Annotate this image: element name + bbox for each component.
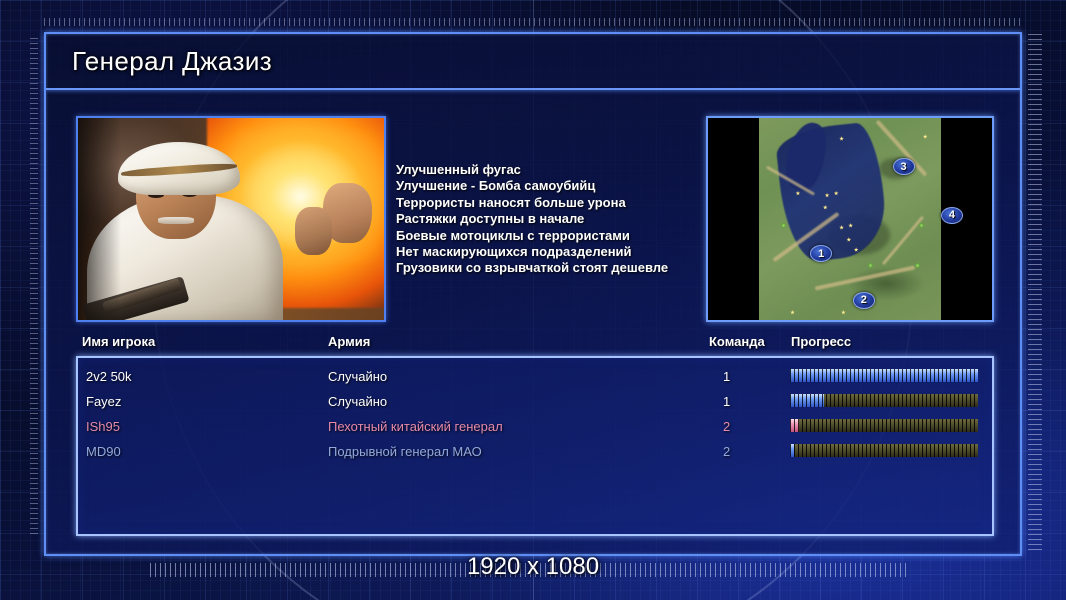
cell-player-name: 2v2 50k: [86, 369, 132, 384]
minimap-prop-2: [919, 223, 924, 228]
ability-line: Улучшенный фугас: [396, 162, 696, 178]
progress-bar: [790, 444, 978, 457]
general-portrait-panel: [76, 116, 386, 322]
player-table-panel: 2v2 50kСлучайно1FayezСлучайно1ISh95Пехот…: [76, 356, 994, 536]
cell-player-name: ISh95: [86, 419, 120, 434]
progress-bar-track: [790, 444, 978, 457]
cell-team: 2: [723, 419, 730, 434]
minimap-star-11: [790, 310, 795, 315]
minimap-panel[interactable]: 1234: [706, 116, 994, 322]
cell-player-name: MD90: [86, 444, 121, 459]
progress-bar: [790, 369, 978, 382]
general-portrait-image: [78, 118, 384, 320]
player-rows: 2v2 50kСлучайно1FayezСлучайно1ISh95Пехот…: [78, 358, 992, 464]
minimap-terrain: [759, 118, 941, 320]
column-header-team: Команда: [709, 334, 765, 349]
minimap-start-position-2: 2: [853, 292, 875, 309]
page-title: Генерал Джазиз: [72, 46, 272, 77]
table-row[interactable]: MD90Подрывной генерал МАО2: [78, 439, 992, 464]
portrait-mouth: [158, 217, 195, 224]
cell-army: Подрывной генерал МАО: [328, 444, 482, 459]
ability-line: Грузовики со взрывчаткой стоят дешевле: [396, 260, 696, 276]
general-abilities-list: Улучшенный фугасУлучшение - Бомба самоуб…: [396, 162, 696, 277]
portrait-vignette: [78, 118, 121, 320]
minimap-star-2: [923, 134, 928, 139]
minimap-start-position-4: 4: [941, 207, 963, 224]
minimap-canvas: 1234: [708, 118, 992, 320]
minimap-start-position-3: 3: [893, 158, 915, 175]
portrait-hand-left: [295, 207, 332, 255]
table-row[interactable]: ISh95Пехотный китайский генерал2: [78, 414, 992, 439]
minimap-prop-3: [868, 263, 873, 268]
progress-bar-fill: [790, 394, 824, 407]
minimap-letterbox-left: [708, 118, 759, 320]
progress-bar-track: [790, 419, 978, 432]
ability-line: Боевые мотоциклы с террористами: [396, 228, 696, 244]
ruler-right: [1028, 34, 1042, 554]
minimap-road-2: [814, 265, 914, 290]
progress-bar: [790, 419, 978, 432]
progress-bar-fill: [790, 444, 794, 457]
table-row[interactable]: FayezСлучайно1: [78, 389, 992, 414]
cell-army: Случайно: [328, 394, 387, 409]
player-table-header: Имя игрока Армия Команда Прогресс: [76, 334, 994, 356]
column-header-name: Имя игрока: [82, 334, 155, 349]
cell-army: Случайно: [328, 369, 387, 384]
cell-army: Пехотный китайский генерал: [328, 419, 503, 434]
ability-line: Растяжки доступны в начале: [396, 211, 696, 227]
progress-bar-fill: [790, 419, 799, 432]
minimap-prop-1: [781, 223, 786, 228]
resolution-label: 1920 x 1080: [0, 553, 1066, 581]
ability-line: Террористы наносят больше урона: [396, 195, 696, 211]
cell-player-name: Fayez: [86, 394, 121, 409]
ability-line: Улучшение - Бомба самоубийц: [396, 178, 696, 194]
progress-bar: [790, 394, 978, 407]
table-row[interactable]: 2v2 50kСлучайно1: [78, 364, 992, 389]
cell-team: 1: [723, 369, 730, 384]
column-header-army: Армия: [328, 334, 370, 349]
minimap-prop-4: [915, 263, 920, 268]
ruler-left: [30, 38, 38, 538]
main-window-frame: Генерал Джазиз Улучшенный фугасУлучшение…: [44, 32, 1022, 556]
title-bar: Генерал Джазиз: [46, 34, 1020, 90]
ruler-top: [44, 18, 1022, 26]
progress-bar-fill: [790, 369, 978, 382]
column-header-progress: Прогресс: [791, 334, 851, 349]
cell-team: 2: [723, 444, 730, 459]
minimap-star-12: [841, 310, 846, 315]
ability-line: Нет маскирующихся подразделений: [396, 244, 696, 260]
cell-team: 1: [723, 394, 730, 409]
